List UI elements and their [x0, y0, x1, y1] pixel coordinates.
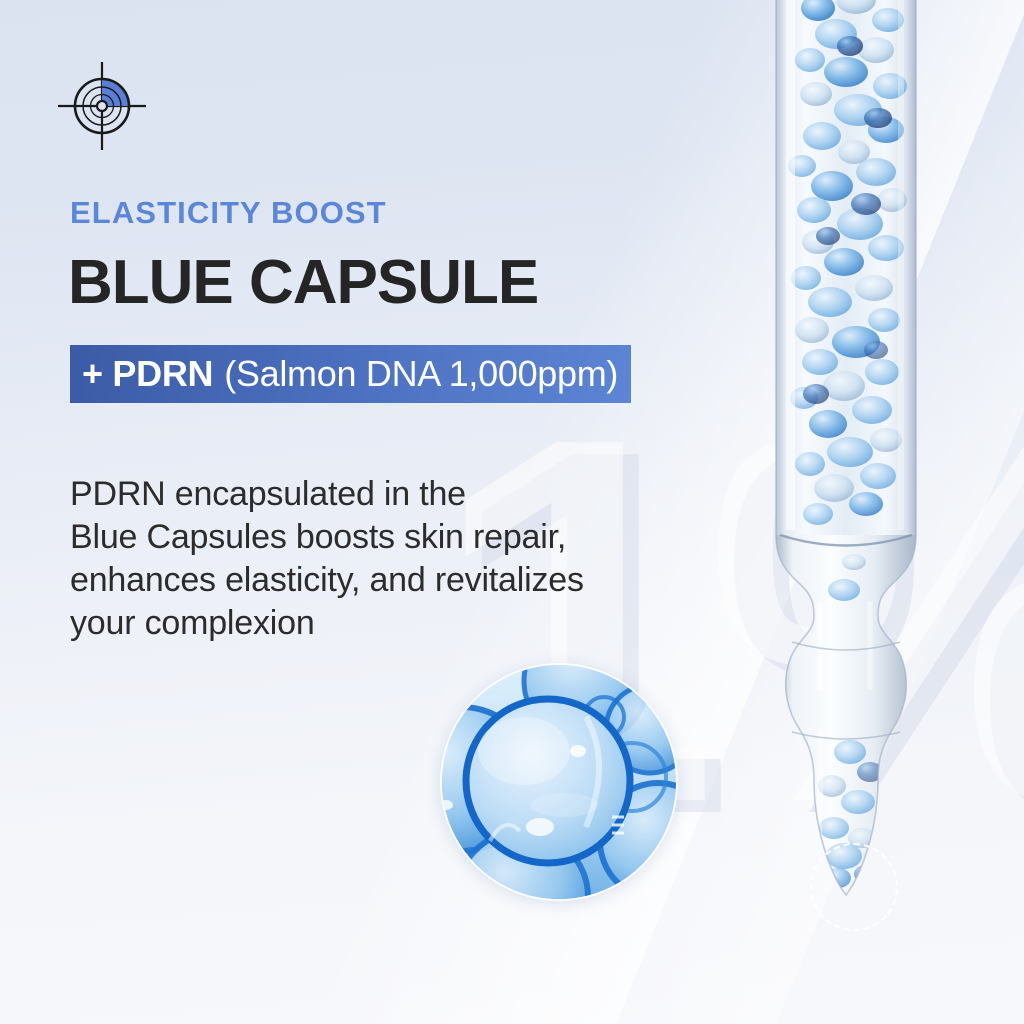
ingredient-badge-strong: + PDRN [82, 353, 213, 395]
body-description: PDRN encapsulated in the Blue Capsules b… [70, 473, 730, 645]
capsule-macro-art [440, 663, 678, 901]
capsule-macro-inset [440, 663, 678, 901]
ingredient-badge: + PDRN (Salmon DNA 1,000ppm) [70, 345, 631, 403]
zoom-source-marker [810, 843, 898, 931]
product-marketing-card: 1% 1% ELASTICITY BOOST BLUE CAPSULE + PD… [0, 0, 1024, 1024]
crosshair-target-logo [56, 60, 148, 152]
page-title: BLUE CAPSULE [68, 252, 538, 314]
ingredient-badge-detail: (Salmon DNA 1,000ppm) [224, 353, 618, 395]
eyebrow-label: ELASTICITY BOOST [70, 195, 387, 231]
serum-dropper-ampoule [758, 0, 934, 940]
